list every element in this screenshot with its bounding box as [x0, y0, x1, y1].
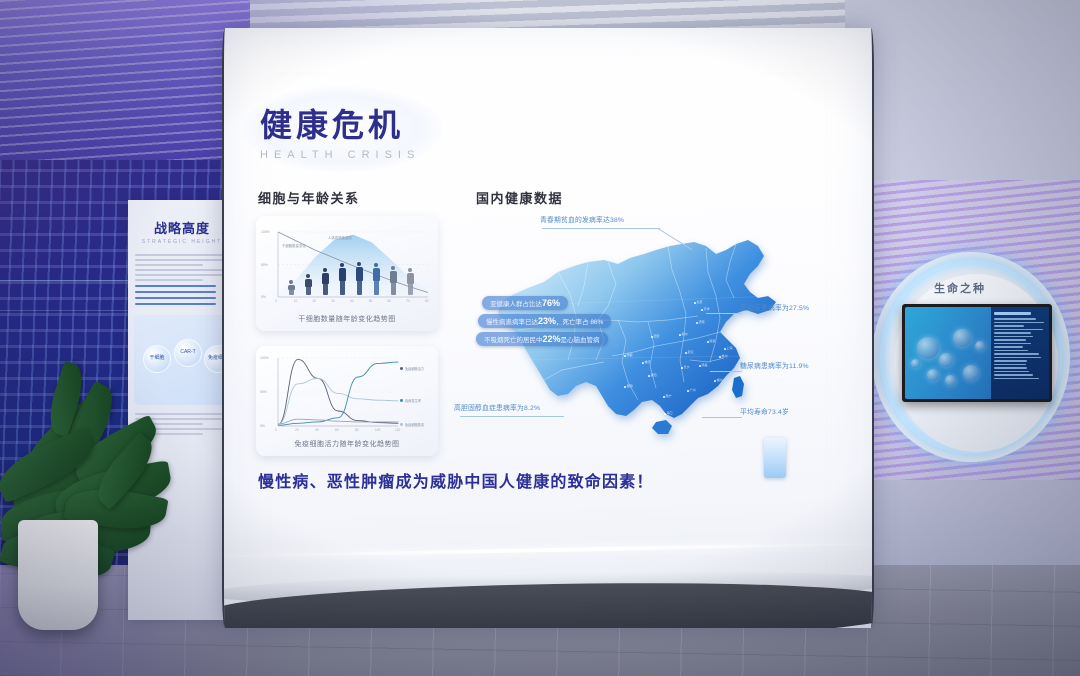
- city-label: 重庆: [645, 360, 651, 364]
- x-tick-label: 60: [388, 299, 392, 303]
- pill-value: 76%: [542, 298, 560, 308]
- city-dot: [624, 386, 626, 388]
- figure-body: [373, 268, 380, 282]
- text-line: [994, 322, 1043, 324]
- bullet-line: [135, 303, 216, 305]
- figure-少年: [320, 268, 330, 296]
- text-line: [994, 350, 1027, 352]
- city-label: 广州: [690, 388, 696, 392]
- y-tick-label: 100%: [260, 356, 269, 360]
- annotation-leader-line: [710, 371, 742, 372]
- city-dot: [642, 362, 644, 364]
- figure-中年: [371, 263, 381, 296]
- left-exhibit-body-text: [135, 254, 229, 305]
- city-label: 杭州: [722, 354, 728, 358]
- potted-plant: [0, 350, 170, 640]
- chart-card-immune-cell[interactable]: 免疫细胞活力随年龄变化趋势图 100%50%0%020406080100120免…: [256, 346, 438, 456]
- left-exhibit-subtitle: STRATEGIC HEIGHT: [128, 239, 236, 245]
- page-title: 健康危机: [260, 100, 420, 146]
- figure-中老年: [388, 266, 398, 296]
- figure-body: [305, 279, 312, 287]
- curved-exhibition-wall: 健康危机 HEALTH CRISIS 细胞与年龄关系 国内健康数据 干细胞数量随…: [222, 28, 874, 628]
- hainan-island-path: [652, 420, 672, 434]
- figure-legs: [408, 284, 413, 295]
- x-tick-label: 50: [369, 299, 373, 303]
- x-tick-label: 80: [425, 299, 429, 303]
- figure-body: [288, 285, 295, 290]
- annotation-diabetes: 糖尿病患病率为11.9%: [740, 360, 809, 370]
- x-tick-label: 20: [313, 299, 317, 303]
- pill-value: 23%: [538, 316, 556, 326]
- pill-prefix: 不吸烟死亡的居民中: [484, 337, 543, 344]
- text-line: [994, 346, 1023, 348]
- city-dot: [699, 365, 701, 367]
- text-line: [135, 274, 229, 276]
- figure-legs: [374, 281, 379, 295]
- display-text-column: [991, 307, 1049, 399]
- legend-marker: [400, 399, 403, 402]
- legend-marker: [400, 367, 403, 370]
- city-label: 济南: [699, 320, 705, 324]
- text-line: [994, 339, 1025, 341]
- figure-body: [356, 267, 363, 281]
- city-dot: [663, 396, 665, 398]
- section-header-cell-age: 细胞与年龄关系: [258, 188, 360, 207]
- poster-headline: 慢性病、恶性肿瘤成为威胁中国人健康的致命因素！: [258, 468, 838, 492]
- figure-head: [306, 274, 310, 278]
- x-tick-label: 70: [406, 299, 410, 303]
- series-label-maturity: 人体成熟度曲线: [328, 235, 352, 240]
- plant-pot: [18, 520, 98, 630]
- city-label: 南京: [710, 339, 716, 343]
- exhibit-seed-of-life[interactable]: 生命之种: [872, 252, 1080, 474]
- y-tick-label: 100%: [261, 230, 270, 234]
- annotation-leader-line: [706, 313, 742, 314]
- pill-prefix: 慢性病患病率已达: [486, 319, 538, 326]
- text-line: [994, 371, 1029, 373]
- annotation-leader-line: [460, 416, 564, 417]
- legend-label: 免疫细胞数量: [405, 422, 424, 427]
- y-tick-label: 0%: [260, 424, 265, 428]
- figure-legs: [306, 287, 311, 295]
- city-label: 西安: [654, 334, 660, 338]
- stat-pill-subhealth: 亚健康人群占比达76%: [482, 296, 568, 310]
- wall-display[interactable]: [902, 304, 1052, 402]
- figure-body: [322, 273, 329, 284]
- city-dot: [707, 341, 709, 343]
- city-dot: [694, 302, 696, 304]
- city-label: 南昌: [702, 363, 708, 367]
- figure-婴儿: [286, 280, 296, 296]
- cell-graphic: [917, 337, 939, 359]
- figure-head: [408, 268, 412, 272]
- city-label: 郑州: [682, 332, 688, 336]
- right-exhibit-title: 生命之种: [900, 280, 1020, 296]
- figure-儿童: [303, 274, 313, 296]
- city-dot: [648, 375, 650, 377]
- city-label: 昆明: [627, 384, 633, 388]
- x-tick-label: 0: [275, 428, 277, 432]
- city-label: 北京: [697, 300, 703, 304]
- annotation-cholesterol: 高胆固醇血症患病率为8.2%: [454, 402, 540, 412]
- cell-graphic: [911, 359, 920, 368]
- pill-suffix: 是心脑血管病: [561, 337, 600, 344]
- annotation-life-expectancy: 平均寿命73.4岁: [740, 406, 789, 416]
- series-label-decline: 干细胞数量变化: [282, 243, 306, 248]
- city-dot: [664, 413, 666, 415]
- chart-caption: 干细胞数量随年龄变化趋势图: [256, 314, 438, 324]
- bullet-line: [135, 291, 216, 293]
- figure-legs: [357, 281, 362, 295]
- legend-label: 免疫细胞活力: [405, 366, 424, 371]
- x-tick-label: 80: [355, 428, 359, 432]
- display-content: [905, 307, 1049, 399]
- led-wall-upper: [0, 0, 250, 160]
- health-crisis-poster: 健康危机 HEALTH CRISIS 细胞与年龄关系 国内健康数据 干细胞数量随…: [224, 28, 872, 628]
- figure-青年: [337, 263, 347, 296]
- text-line: [135, 269, 229, 271]
- led-stripe-pattern: [0, 0, 250, 160]
- city-dot: [724, 348, 726, 350]
- annotation-hypertension: 高血压患病率为27.5%: [740, 302, 809, 312]
- bullet-line: [135, 285, 216, 287]
- text-line: [994, 343, 1031, 345]
- city-label: 贵阳: [651, 373, 657, 377]
- figure-head: [289, 280, 293, 284]
- figure-legs: [391, 283, 396, 295]
- city-dot: [696, 322, 698, 324]
- legend-label: 疾病发生率: [405, 398, 421, 403]
- text-line: [994, 357, 1041, 359]
- chart-card-stem-cell[interactable]: 干细胞数量随年龄变化趋势图 100%50%0%01020304050607080…: [256, 216, 438, 331]
- city-dot: [624, 355, 626, 357]
- annotation-anemia: 青春期贫血的发病率达38%: [540, 214, 624, 224]
- city-dot: [687, 390, 689, 392]
- city-label: 天津: [704, 307, 710, 311]
- city-label: 武汉: [688, 350, 694, 354]
- text-line: [994, 312, 1030, 315]
- china-map-svg: [458, 210, 848, 490]
- figure-legs: [289, 290, 294, 295]
- figure-legs: [340, 281, 345, 295]
- pill-prefix: 亚健康人群占比达: [490, 301, 542, 308]
- text-line: [135, 279, 203, 281]
- city-label: 成都: [627, 353, 633, 357]
- figure-body: [390, 271, 397, 283]
- city-label: 长沙: [684, 365, 690, 369]
- text-line: [994, 378, 1039, 380]
- stat-pill-chronic: 慢性病患病率已达23%，死亡率占 86%: [478, 314, 611, 328]
- cell-graphic: [975, 341, 985, 351]
- taiwan-island-path: [732, 376, 744, 398]
- figure-老年: [405, 268, 415, 296]
- page-title-english: HEALTH CRISIS: [260, 149, 420, 161]
- city-dot: [681, 367, 683, 369]
- x-tick-label: 0: [275, 299, 277, 303]
- text-line: [994, 318, 1035, 320]
- cell-graphic: [939, 353, 953, 367]
- pill-suffix: ，死亡率占 86%: [556, 319, 603, 326]
- x-tick-label: 20: [295, 428, 299, 432]
- text-line: [994, 336, 1033, 338]
- city-dot: [719, 356, 721, 358]
- text-line: [994, 367, 1027, 369]
- x-tick-label: 120: [395, 428, 400, 432]
- city-label: 海口: [667, 411, 673, 415]
- city-dot: [714, 380, 716, 382]
- text-line: [994, 332, 1031, 334]
- city-label: 南宁: [666, 394, 672, 398]
- badge-car-t[interactable]: CAR-T: [174, 339, 202, 367]
- y-tick-label: 50%: [260, 390, 267, 394]
- figure-head: [357, 262, 361, 266]
- text-line: [994, 374, 1033, 376]
- figure-legs: [323, 284, 328, 295]
- city-dot: [679, 334, 681, 336]
- bullet-line: [135, 297, 216, 299]
- city-label: 上海: [727, 346, 733, 350]
- text-line: [135, 264, 203, 266]
- city-label: 福州: [717, 378, 723, 382]
- x-tick-label: 30: [331, 299, 335, 303]
- city-dot: [651, 336, 653, 338]
- text-line: [994, 329, 1042, 331]
- x-tick-label: 40: [350, 299, 354, 303]
- china-map-visualization[interactable]: 亚健康人群占比达76% 慢性病患病率已达23%，死亡率占 86% 不吸烟死亡的居…: [458, 210, 848, 490]
- annotation-leader-line: [702, 417, 742, 418]
- annotation-leader-line: [542, 228, 660, 229]
- text-line: [994, 360, 1026, 362]
- stat-pill-cardiovascular: 不吸烟死亡的居民中22%是心脑血管病: [476, 332, 608, 346]
- cell-graphic: [953, 329, 971, 347]
- city-dot: [685, 352, 687, 354]
- left-exhibit-title: 战略高度: [128, 218, 236, 237]
- figure-head: [323, 268, 327, 272]
- text-line: [994, 325, 1024, 327]
- x-tick-label: 100: [375, 428, 380, 432]
- figure-head: [340, 263, 344, 267]
- legend-marker: [400, 423, 403, 426]
- figure-壮年: [354, 262, 364, 296]
- cell-graphic: [963, 365, 979, 381]
- figure-body: [407, 273, 414, 284]
- cell-graphic: [927, 369, 939, 381]
- city-dot: [701, 309, 703, 311]
- x-tick-label: 10: [294, 299, 298, 303]
- figure-body: [339, 268, 346, 282]
- exhibition-scene: 战略高度 STRATEGIC HEIGHT 干细胞 CAR-T 免疫细胞: [0, 0, 1080, 676]
- section-header-health-data: 国内健康数据: [476, 188, 563, 207]
- figure-head: [391, 266, 395, 270]
- pill-value: 22%: [543, 334, 561, 344]
- cell-graphic: [945, 375, 956, 386]
- text-line: [135, 254, 229, 256]
- y-tick-label: 50%: [261, 263, 268, 267]
- text-line: [994, 353, 1038, 355]
- x-tick-label: 40: [315, 428, 319, 432]
- text-line: [994, 364, 1026, 366]
- figure-head: [374, 263, 378, 267]
- text-line: [135, 259, 229, 261]
- y-tick-label: 0%: [261, 295, 266, 299]
- x-tick-label: 60: [335, 428, 339, 432]
- poster-title-block: 健康危机 HEALTH CRISIS: [260, 100, 420, 161]
- chart-caption: 免疫细胞活力随年龄变化趋势图: [256, 439, 438, 449]
